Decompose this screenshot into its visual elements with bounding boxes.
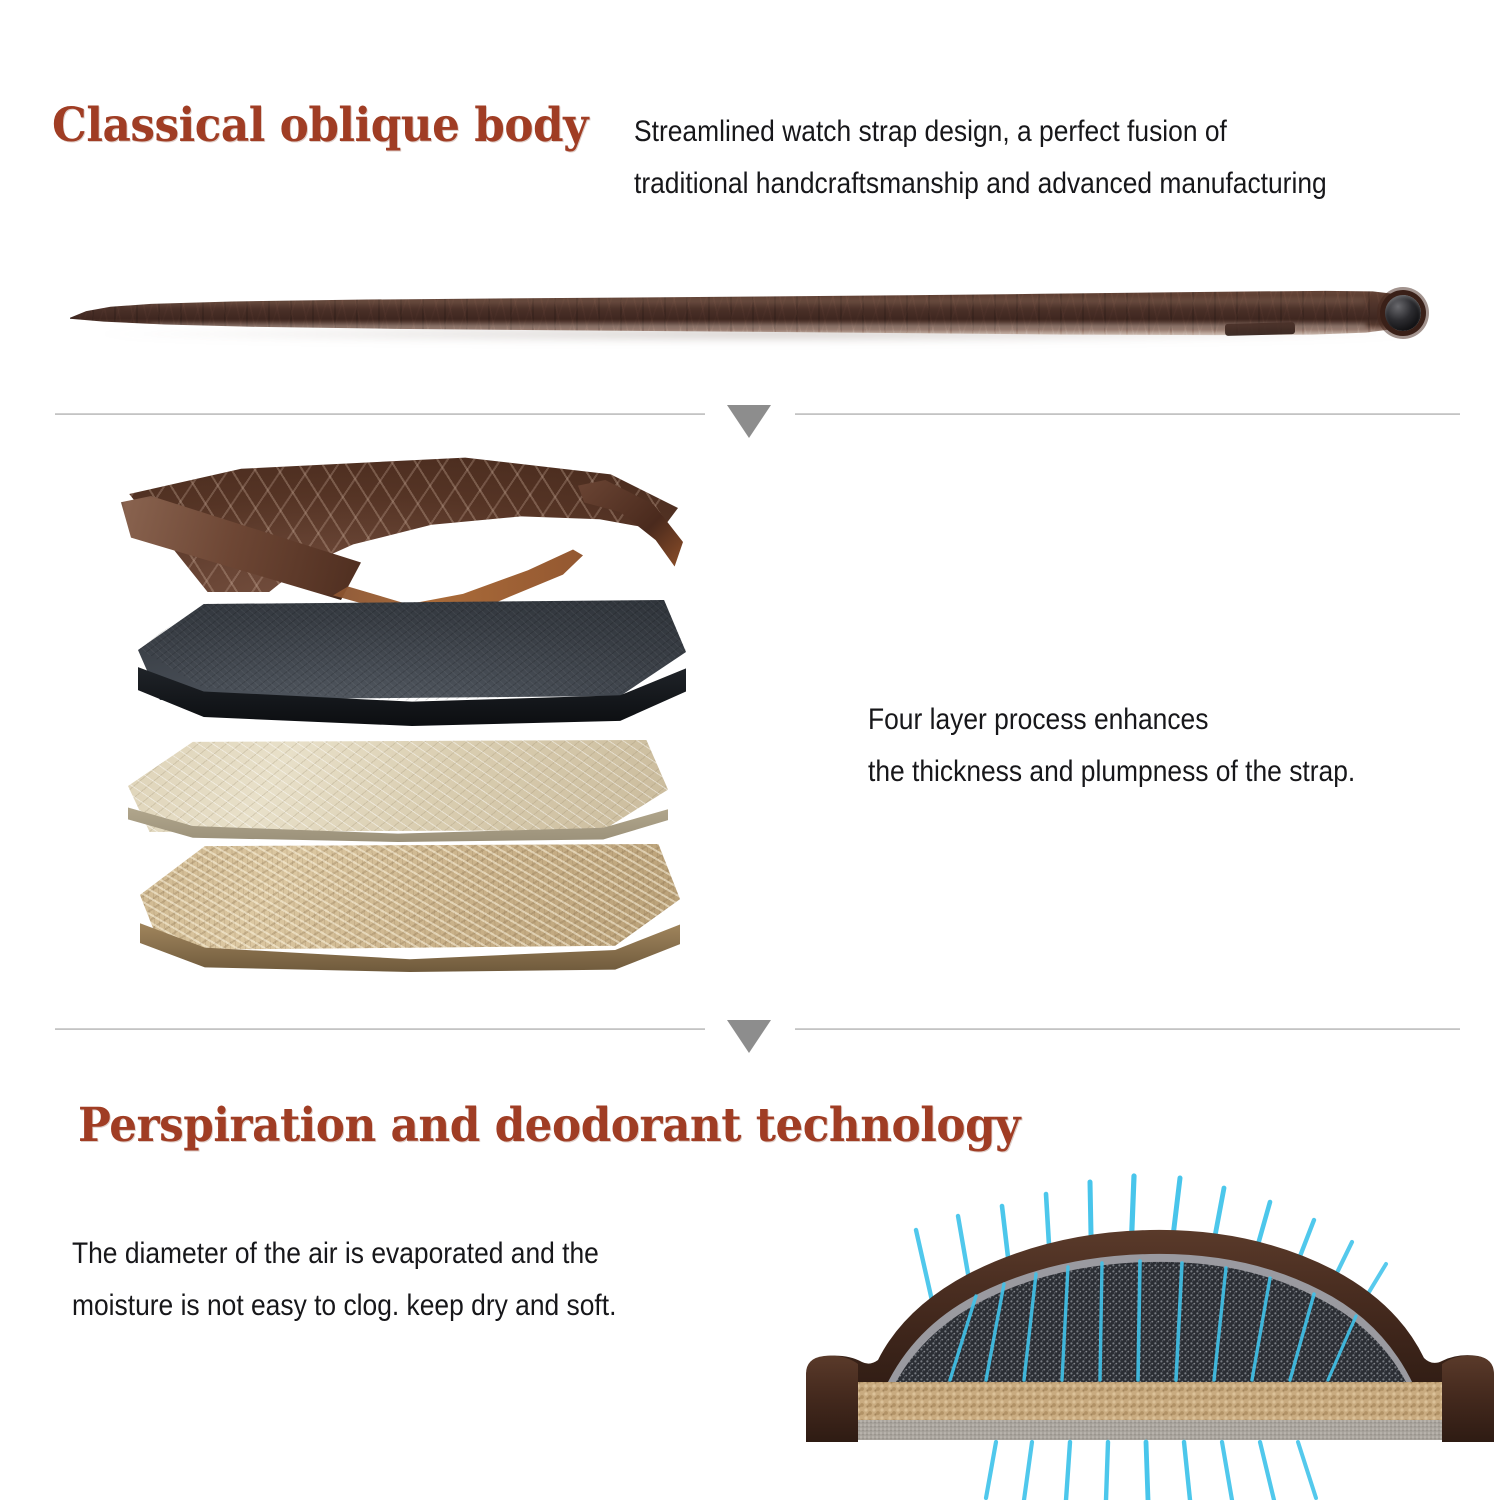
section-divider-2: [55, 1012, 1460, 1046]
exploded-four-layer-stack-image: [110, 452, 730, 992]
section-divider-1: [55, 397, 1460, 431]
divider-rule-left: [55, 1028, 705, 1030]
air-flow-lines-lower: [986, 1442, 1316, 1500]
intro-paragraph: Streamlined watch strap design, a perfec…: [634, 106, 1327, 209]
intro-paragraph-line-2: traditional handcraftsmanship and advanc…: [634, 158, 1327, 210]
watch-strap-side-view-image: [70, 255, 1440, 375]
section-heading-perspiration-deodorant: Perspiration and deodorant technology: [78, 1098, 1020, 1153]
product-infographic-page: Classical oblique body Streamlined watch…: [0, 0, 1500, 1500]
lining-weave-texture: [140, 844, 680, 950]
breathability-paragraph-line-2: moisture is not easy to clog. keep dry a…: [72, 1280, 616, 1332]
four-layer-paragraph: Four layer process enhances the thicknes…: [868, 694, 1355, 797]
chevron-down-triangle-icon: [727, 1020, 771, 1053]
cross-section-svg: [800, 1168, 1500, 1500]
board-fibre-texture: [128, 740, 668, 832]
strap-keeper-loop: [1225, 322, 1295, 336]
divider-rule-left: [55, 413, 705, 415]
cross-section-base-layer: [822, 1420, 1478, 1440]
divider-rule-right: [795, 1028, 1460, 1030]
divider-rule-right: [795, 413, 1460, 415]
strap-cross-section-airflow-image: [800, 1168, 1500, 1500]
cross-section-leather-wrap-right: [1442, 1356, 1494, 1442]
cross-section-cork-layer: [822, 1382, 1478, 1424]
layer-top-leather: [118, 452, 678, 622]
section-heading-classical-oblique-body: Classical oblique body: [52, 98, 588, 153]
strap-top-highlight: [124, 298, 1366, 309]
layer-foam-cushion: [138, 600, 686, 740]
leather-curled-tail: [578, 480, 683, 574]
cross-section-leather-wrap-left: [806, 1356, 858, 1442]
metal-grommet-icon: [1385, 295, 1421, 331]
intro-paragraph-line-1: Streamlined watch strap design, a perfec…: [634, 106, 1327, 158]
layer-lining-fabric: [140, 844, 680, 994]
breathability-paragraph: The diameter of the air is evaporated an…: [72, 1228, 616, 1331]
four-layer-paragraph-line-2: the thickness and plumpness of the strap…: [868, 746, 1355, 798]
four-layer-paragraph-line-1: Four layer process enhances: [868, 694, 1355, 746]
breathability-paragraph-line-1: The diameter of the air is evaporated an…: [72, 1228, 616, 1280]
chevron-down-triangle-icon: [727, 405, 771, 438]
